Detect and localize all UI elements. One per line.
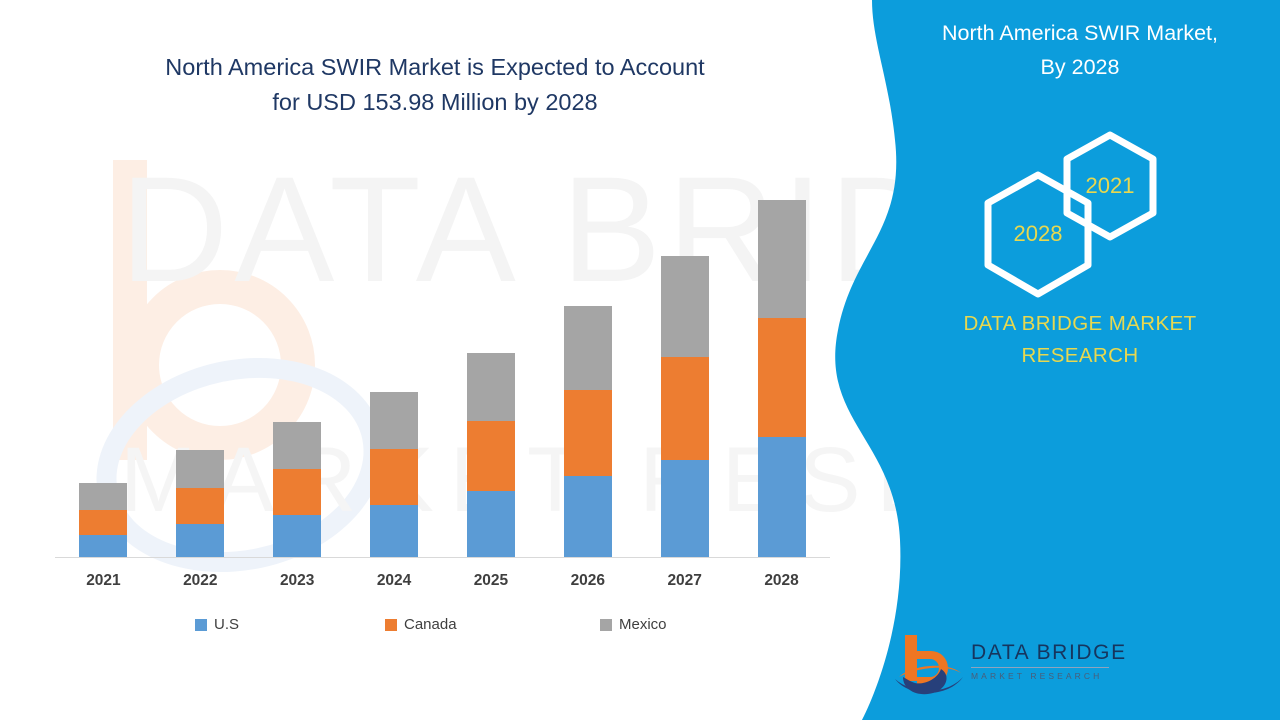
logo-title: DATA BRIDGE	[971, 641, 1111, 665]
bar-segment-mexico-2023	[273, 422, 321, 469]
bar-group-2028	[758, 200, 806, 557]
bar-segment-canada-2028	[758, 318, 806, 437]
bar-segment-canada-2025	[467, 421, 515, 491]
legend-swatch-icon	[195, 619, 207, 631]
legend-label: U.S	[214, 616, 239, 633]
panel-content: North America SWIR Market, By 2028 2021 …	[900, 0, 1280, 720]
legend-item-us[interactable]: U.S	[195, 616, 239, 633]
x-axis-line	[55, 557, 830, 558]
data-bridge-logo-text: DATA BRIDGE MARKET RESEARCH	[971, 641, 1111, 681]
data-bridge-b-logo-icon	[893, 633, 965, 699]
bar-segment-mexico-2024	[370, 392, 418, 449]
bar-segment-canada-2022	[176, 488, 224, 524]
bar-segment-us-2022	[176, 524, 224, 557]
bar-segment-mexico-2025	[467, 353, 515, 421]
bar-segment-us-2023	[273, 515, 321, 557]
legend-label: Canada	[404, 616, 457, 633]
legend-swatch-icon	[385, 619, 397, 631]
bar-segment-mexico-2027	[661, 256, 709, 357]
bar-segment-us-2026	[564, 476, 612, 557]
bar-segment-us-2024	[370, 505, 418, 557]
chart-legend: U.SCanadaMexico	[55, 616, 830, 642]
bar-group-2021	[79, 483, 127, 557]
bar-segment-us-2021	[79, 535, 127, 557]
bar-group-2027	[661, 256, 709, 557]
x-axis-label-2024: 2024	[359, 572, 429, 590]
legend-item-canada[interactable]: Canada	[385, 616, 457, 633]
bar-segment-mexico-2021	[79, 483, 127, 510]
panel-title-line-1: North America SWIR Market,	[880, 16, 1280, 50]
chart-title: North America SWIR Market is Expected to…	[90, 50, 780, 120]
x-axis-label-2023: 2023	[262, 572, 332, 590]
legend-item-mexico[interactable]: Mexico	[600, 616, 667, 633]
bar-segment-mexico-2028	[758, 200, 806, 318]
bar-segment-us-2028	[758, 437, 806, 557]
panel-brand-text: DATA BRIDGE MARKET RESEARCH	[880, 308, 1280, 372]
x-axis-tick-labels: 20212022202320242025202620272028	[55, 572, 830, 598]
bar-segment-mexico-2026	[564, 306, 612, 390]
x-axis-label-2027: 2027	[650, 572, 720, 590]
bar-chart-plot-area	[55, 180, 830, 558]
panel-brand-line-2: RESEARCH	[880, 340, 1280, 372]
hexagon-badge-2028: 2028	[980, 170, 1096, 300]
bar-segment-canada-2021	[79, 510, 127, 535]
bar-segment-mexico-2022	[176, 450, 224, 488]
panel-brand-line-1: DATA BRIDGE MARKET	[880, 308, 1280, 340]
bar-segment-canada-2024	[370, 449, 418, 505]
bar-segment-us-2027	[661, 460, 709, 557]
x-axis-label-2021: 2021	[68, 572, 138, 590]
panel-title-line-2: By 2028	[880, 50, 1280, 84]
chart-title-line-2: for USD 153.98 Million by 2028	[90, 85, 780, 120]
bar-group-2023	[273, 422, 321, 557]
bar-group-2025	[467, 353, 515, 557]
bar-segment-canada-2027	[661, 357, 709, 460]
data-bridge-logo: DATA BRIDGE MARKET RESEARCH	[893, 633, 1103, 703]
panel-title: North America SWIR Market, By 2028	[880, 16, 1280, 84]
x-axis-label-2028: 2028	[747, 572, 817, 590]
hexagon-badge-group: 2021 2028	[880, 130, 1280, 290]
x-axis-label-2025: 2025	[456, 572, 526, 590]
infographic-canvas: DATA BRIDGE MARKET RESEARCH North Americ…	[0, 0, 1280, 720]
bar-segment-canada-2026	[564, 390, 612, 476]
hexagon-badge-2028-label: 2028	[980, 221, 1096, 247]
bar-group-2022	[176, 450, 224, 557]
x-axis-label-2026: 2026	[553, 572, 623, 590]
legend-swatch-icon	[600, 619, 612, 631]
logo-divider	[971, 667, 1109, 668]
bar-group-2026	[564, 306, 612, 557]
bar-group-2024	[370, 392, 418, 557]
legend-label: Mexico	[619, 616, 667, 633]
bar-segment-us-2025	[467, 491, 515, 557]
bar-segment-canada-2023	[273, 469, 321, 515]
chart-title-line-1: North America SWIR Market is Expected to…	[90, 50, 780, 85]
logo-subtitle: MARKET RESEARCH	[971, 671, 1111, 681]
x-axis-label-2022: 2022	[165, 572, 235, 590]
